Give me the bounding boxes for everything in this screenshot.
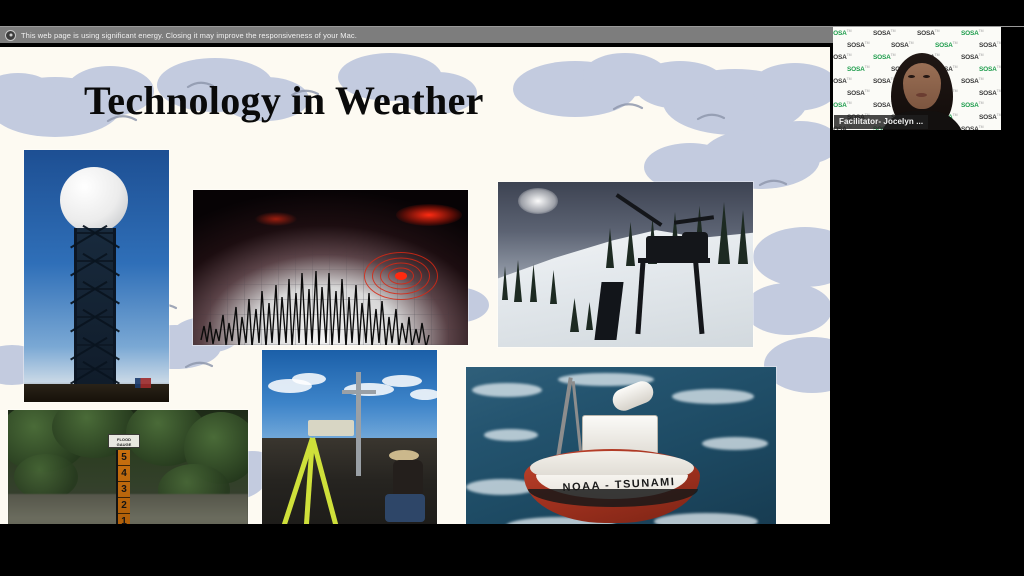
sosa-watermark: SOSATM xyxy=(961,101,983,109)
participant-video-tile[interactable]: SOSATMSOSATMSOSATMSOSATMSOSATMSOSATMSOSA… xyxy=(833,27,1001,130)
noaa-tsunami-buoy-image: NOAA - TSUNAMI xyxy=(466,367,776,524)
sosa-watermark: SOSATM xyxy=(873,29,895,37)
energy-notification-text: This web page is using significant energ… xyxy=(21,31,357,40)
sosa-watermark: SOSATM xyxy=(917,29,939,37)
field-surveyor-image xyxy=(262,350,437,524)
sosa-watermark: SOSATM xyxy=(847,41,869,49)
energy-alert-icon xyxy=(5,30,16,41)
sosa-watermark: SOSATM xyxy=(961,125,983,130)
participant-name-label: Facilitator- Jocelyn ... xyxy=(834,115,928,129)
top-letterbox xyxy=(0,0,1024,26)
flood-gauge-image: FLOODGAUGE 5 4 3 2 1 xyxy=(8,410,248,524)
surveyor-person xyxy=(385,450,429,524)
sosa-watermark: SOSATM xyxy=(979,89,1001,97)
sosa-watermark: SOSATM xyxy=(847,65,869,73)
sosa-watermark: SOSATM xyxy=(833,53,851,61)
gauge-mark: 5 xyxy=(118,450,130,466)
sosa-watermark: SOSATM xyxy=(961,53,983,61)
flood-gauge-sign: FLOODGAUGE xyxy=(108,434,140,448)
shared-slide[interactable]: Technology in Weather xyxy=(0,47,830,524)
seismograph-trace xyxy=(193,190,468,345)
sosa-watermark: SOSATM xyxy=(891,41,913,49)
sosa-watermark: SOSATM xyxy=(833,77,851,85)
sosa-watermark: SOSATM xyxy=(935,41,957,49)
sosa-watermark: SOSATM xyxy=(847,89,869,97)
gauge-mark: 3 xyxy=(118,482,130,498)
gauge-mark: 2 xyxy=(118,498,130,514)
video-panel-filler xyxy=(1001,27,1024,130)
sosa-watermark: SOSATM xyxy=(979,113,1001,121)
page-title: Technology in Weather xyxy=(84,77,484,124)
sosa-watermark: SOSATM xyxy=(961,29,983,37)
snow-measurement-rig xyxy=(638,224,714,334)
flood-gauge-pole: 5 4 3 2 1 xyxy=(116,450,130,524)
gauge-mark: 1 xyxy=(118,514,130,524)
sosa-watermark: SOSATM xyxy=(979,65,1001,73)
radar-lattice-tower xyxy=(74,228,116,386)
gauge-mark: 4 xyxy=(118,466,130,482)
flag-icon xyxy=(135,378,151,388)
sosa-watermark: SOSATM xyxy=(833,101,851,109)
snow-weather-station-image xyxy=(498,182,753,347)
doppler-radar-tower-image xyxy=(24,150,169,402)
screen-root: This web page is using significant energ… xyxy=(0,0,1024,576)
survey-instrument xyxy=(308,420,354,436)
seismograph-reading-image xyxy=(193,190,468,345)
sosa-watermark: SOSATM xyxy=(833,29,851,37)
radar-radome xyxy=(60,167,128,233)
sosa-watermark: SOSATM xyxy=(961,77,983,85)
sosa-watermark: SOSATM xyxy=(979,41,1001,49)
survey-tripod xyxy=(278,438,348,524)
